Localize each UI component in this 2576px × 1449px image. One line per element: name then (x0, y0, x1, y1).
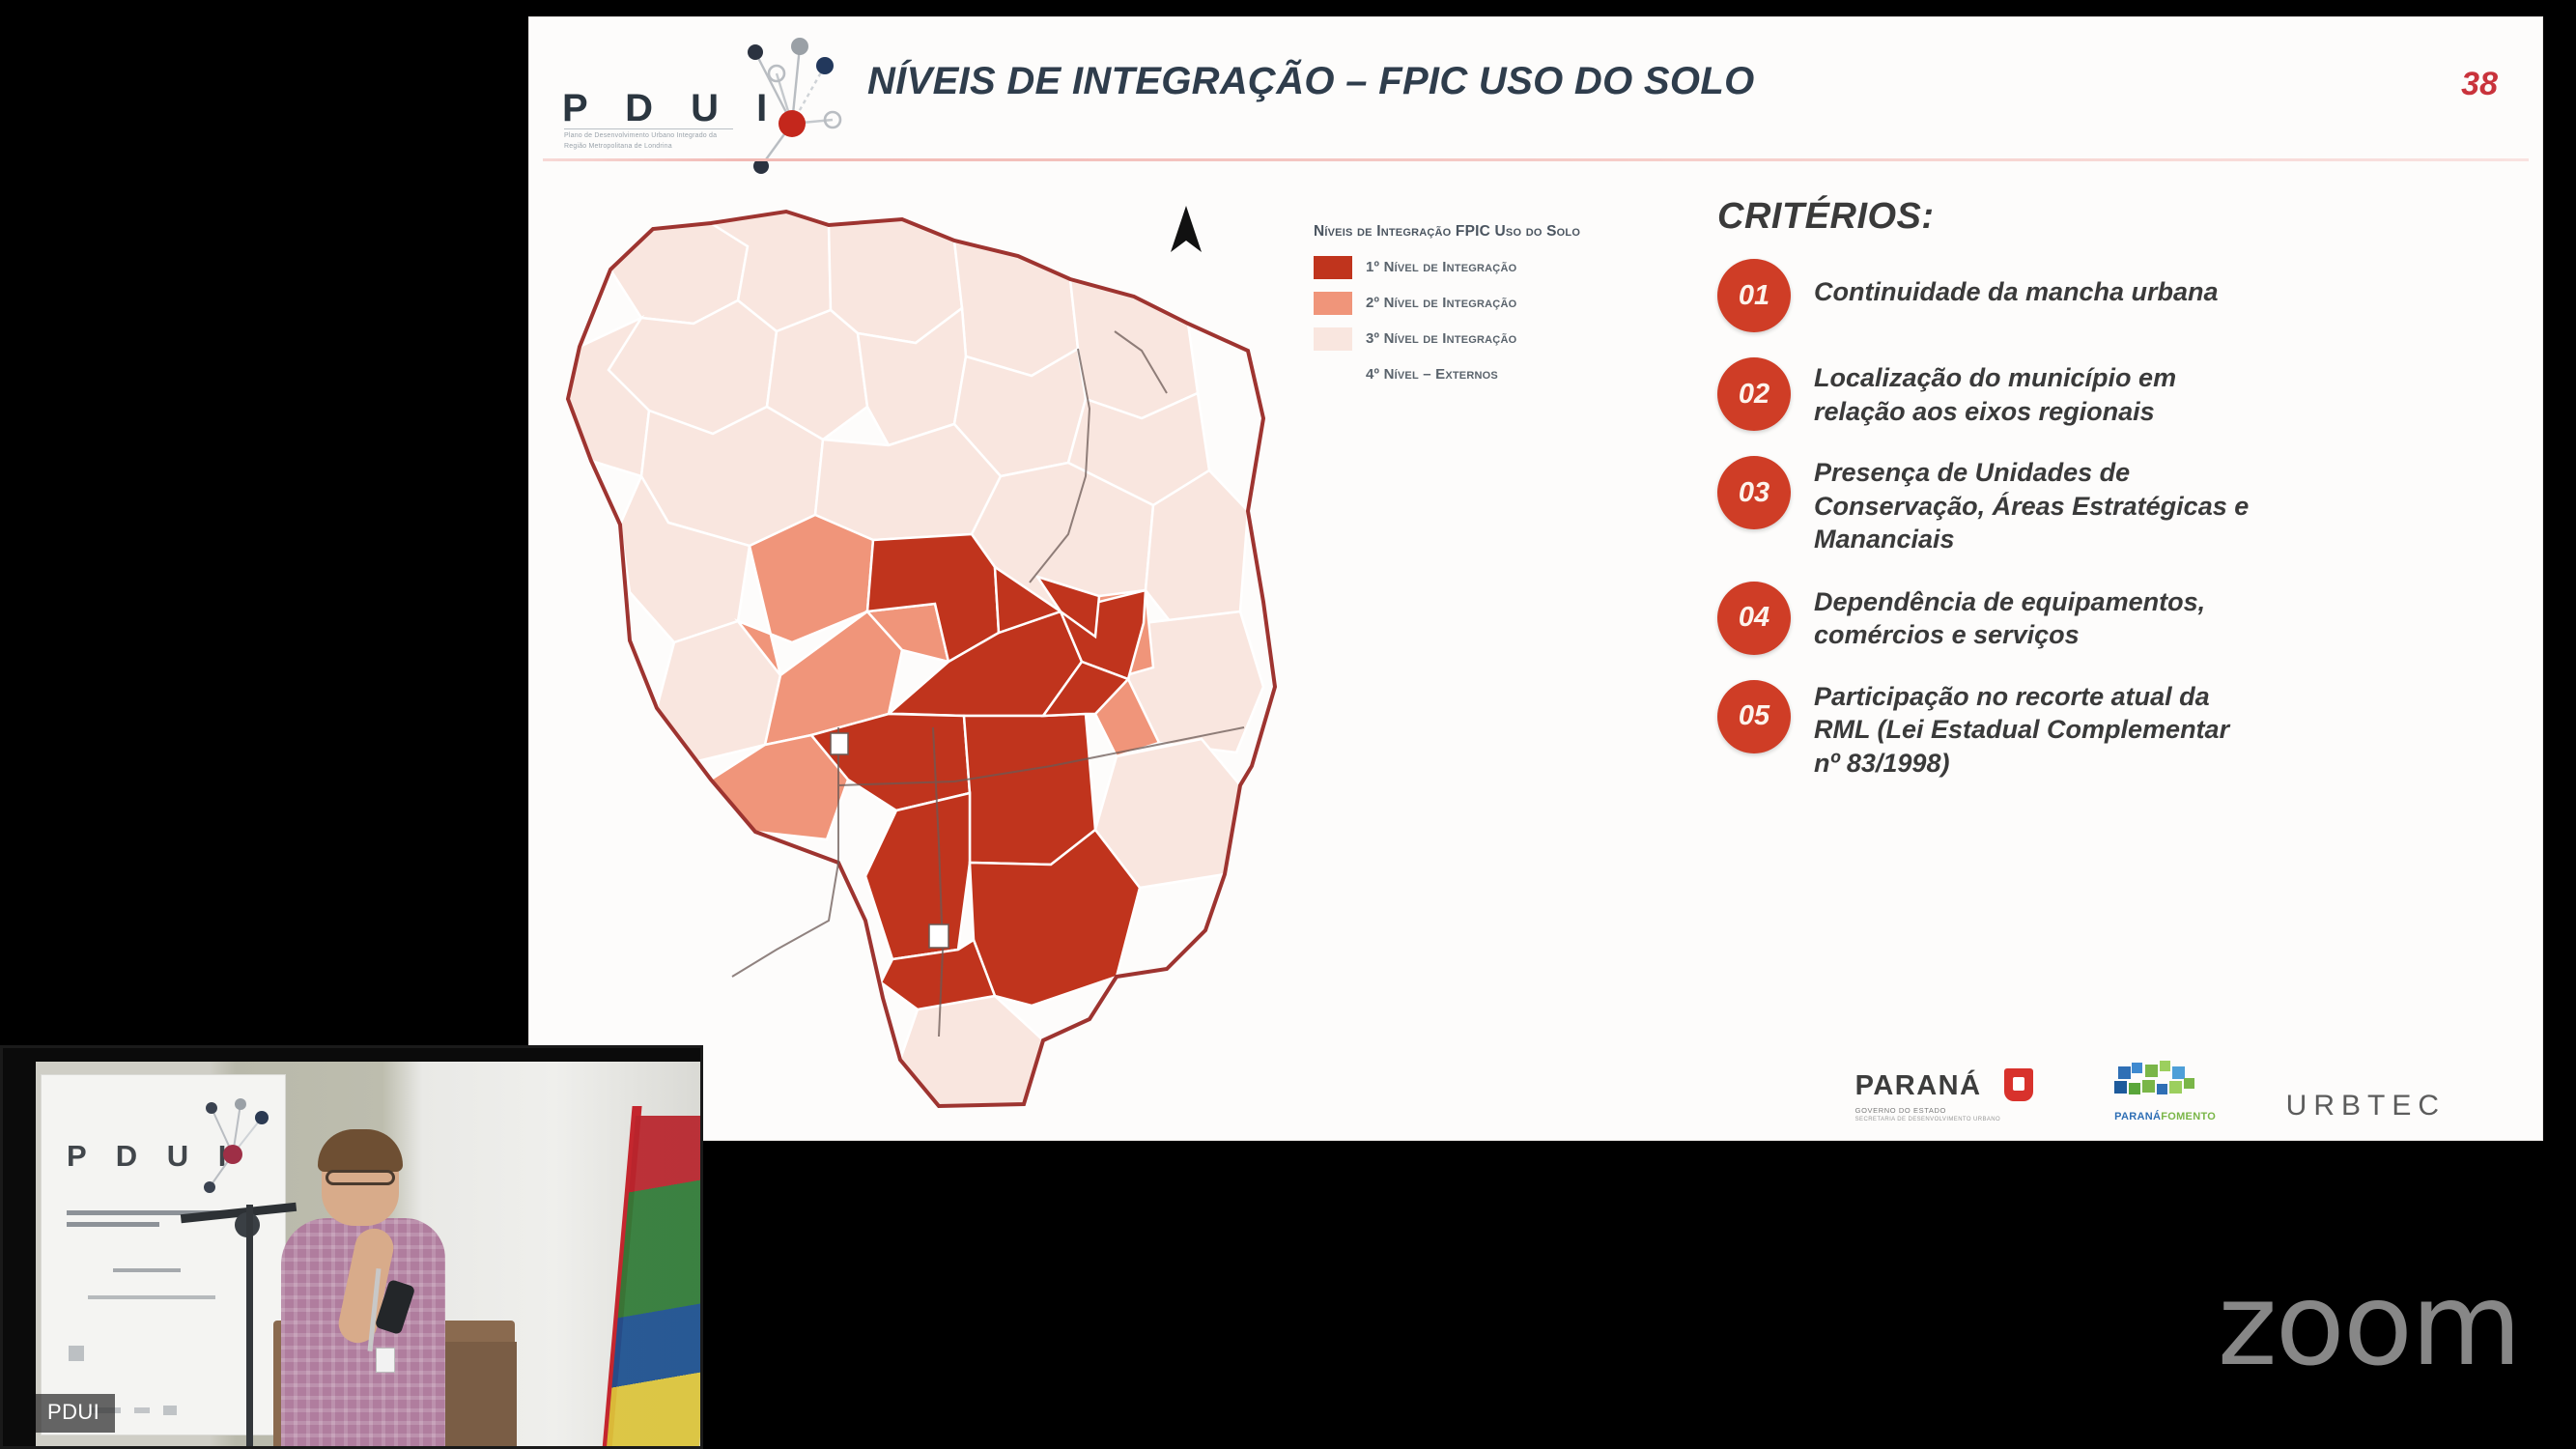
criteria-item: 05 Participação no recorte atual da RML … (1717, 680, 2509, 781)
screen-root: P D U I Plano de Desenvolvimento Urbano … (0, 0, 2576, 1449)
north-arrow-icon (1167, 204, 1205, 256)
criteria-heading: CRITÉRIOS: (1717, 196, 2509, 238)
banner-seal-mark (69, 1346, 84, 1361)
legend-swatch-level4 (1314, 363, 1352, 386)
video-frame: P D U I (36, 1062, 702, 1448)
map-container (549, 186, 1312, 1114)
criteria-badge-01: 01 (1717, 259, 1791, 332)
pdui-logo: P D U I Plano de Desenvolvimento Urbano … (554, 35, 844, 162)
banner-network-icon (190, 1094, 279, 1199)
legend-label-level3: 3º Nível de Integração (1366, 330, 1516, 347)
criteria-item: 04 Dependência de equipamentos, comércio… (1717, 582, 2509, 655)
id-badge (376, 1348, 395, 1373)
legend-swatch-level3 (1314, 327, 1352, 351)
criteria-badge-03: 03 (1717, 456, 1791, 529)
map-legend: Níveis de Integração FPIC Uso do Solo 1º… (1314, 222, 1613, 398)
parana-logo: PARANÁ GOVERNO DO ESTADO SECRETARIA DE D… (1855, 1070, 2045, 1122)
legend-item: 1º Nível de Integração (1314, 255, 1613, 280)
integration-levels-map (549, 186, 1312, 1114)
criteria-badge-02: 02 (1717, 357, 1791, 431)
urbtec-logo: URBTEC (2286, 1090, 2446, 1122)
pdui-logo-subtitle: Plano de Desenvolvimento Urbano Integrad… (564, 131, 728, 152)
legend-swatch-level2 (1314, 292, 1352, 315)
criteria-item: 01 Continuidade da mancha urbana (1717, 259, 2509, 332)
mic-stand-pole (246, 1205, 253, 1446)
banner-footer-mark (163, 1406, 177, 1415)
banner-footer-mark (134, 1407, 150, 1413)
header-divider (543, 158, 2529, 161)
criteria-badge-05: 05 (1717, 680, 1791, 753)
parana-logo-line2: SECRETARIA DE DESENVOLVIMENTO URBANO (1855, 1117, 2045, 1122)
footer-logos: PARANÁ GOVERNO DO ESTADO SECRETARIA DE D… (1855, 1061, 2446, 1122)
parana-shield-icon (2004, 1068, 2033, 1101)
fde-logo: PARANÁFOMENTO (2109, 1061, 2222, 1122)
zoom-watermark: zoom (2218, 1258, 2520, 1391)
criteria-text-03: Presença de Unidades de Conservação, Áre… (1814, 456, 2249, 556)
participant-name-label: PDUI (36, 1394, 115, 1433)
criteria-text-04: Dependência de equipamentos, comércios e… (1814, 582, 2205, 652)
criteria-text-05: Participação no recorte atual da RML (Le… (1814, 680, 2229, 781)
page-title: NÍVEIS DE INTEGRAÇÃO – FPIC USO DO SOLO (867, 60, 1754, 103)
legend-title: Níveis de Integração FPIC Uso do Solo (1314, 222, 1613, 242)
fde-blocks-icon (2109, 1061, 2222, 1103)
legend-label-level2: 2º Nível de Integração (1366, 295, 1516, 311)
pdui-logo-rule (564, 128, 733, 129)
slide-page-number: 38 (2461, 66, 2498, 103)
criteria-panel: CRITÉRIOS: 01 Continuidade da mancha urb… (1717, 196, 2509, 805)
legend-label-level1: 1º Nível de Integração (1366, 259, 1516, 275)
participant-video-tile[interactable]: P D U I (0, 1045, 703, 1449)
banner-text-line (67, 1222, 159, 1227)
criteria-badge-04: 04 (1717, 582, 1791, 655)
legend-item: 4º Nível – Externos (1314, 362, 1613, 387)
banner-text-line (88, 1295, 215, 1299)
slide-header: P D U I Plano de Desenvolvimento Urbano … (529, 17, 2542, 162)
criteria-text-01: Continuidade da mancha urbana (1814, 259, 2219, 309)
parana-logo-line1: GOVERNO DO ESTADO (1855, 1106, 2045, 1115)
glasses-icon (326, 1170, 395, 1185)
fde-wordmark: PARANÁFOMENTO (2109, 1111, 2222, 1122)
parana-wordmark: PARANÁ (1855, 1070, 1982, 1102)
legend-item: 3º Nível de Integração (1314, 327, 1613, 352)
criteria-item: 03 Presença de Unidades de Conservação, … (1717, 456, 2509, 556)
legend-swatch-level1 (1314, 256, 1352, 279)
presentation-slide: P D U I Plano de Desenvolvimento Urbano … (529, 17, 2542, 1140)
pdui-network-icon (717, 31, 852, 176)
legend-item: 2º Nível de Integração (1314, 291, 1613, 316)
criteria-item: 02 Localização do município em relação a… (1717, 357, 2509, 431)
banner-text-line (113, 1268, 181, 1272)
criteria-text-02: Localização do município em relação aos … (1814, 357, 2176, 428)
legend-label-level4: 4º Nível – Externos (1366, 366, 1498, 383)
